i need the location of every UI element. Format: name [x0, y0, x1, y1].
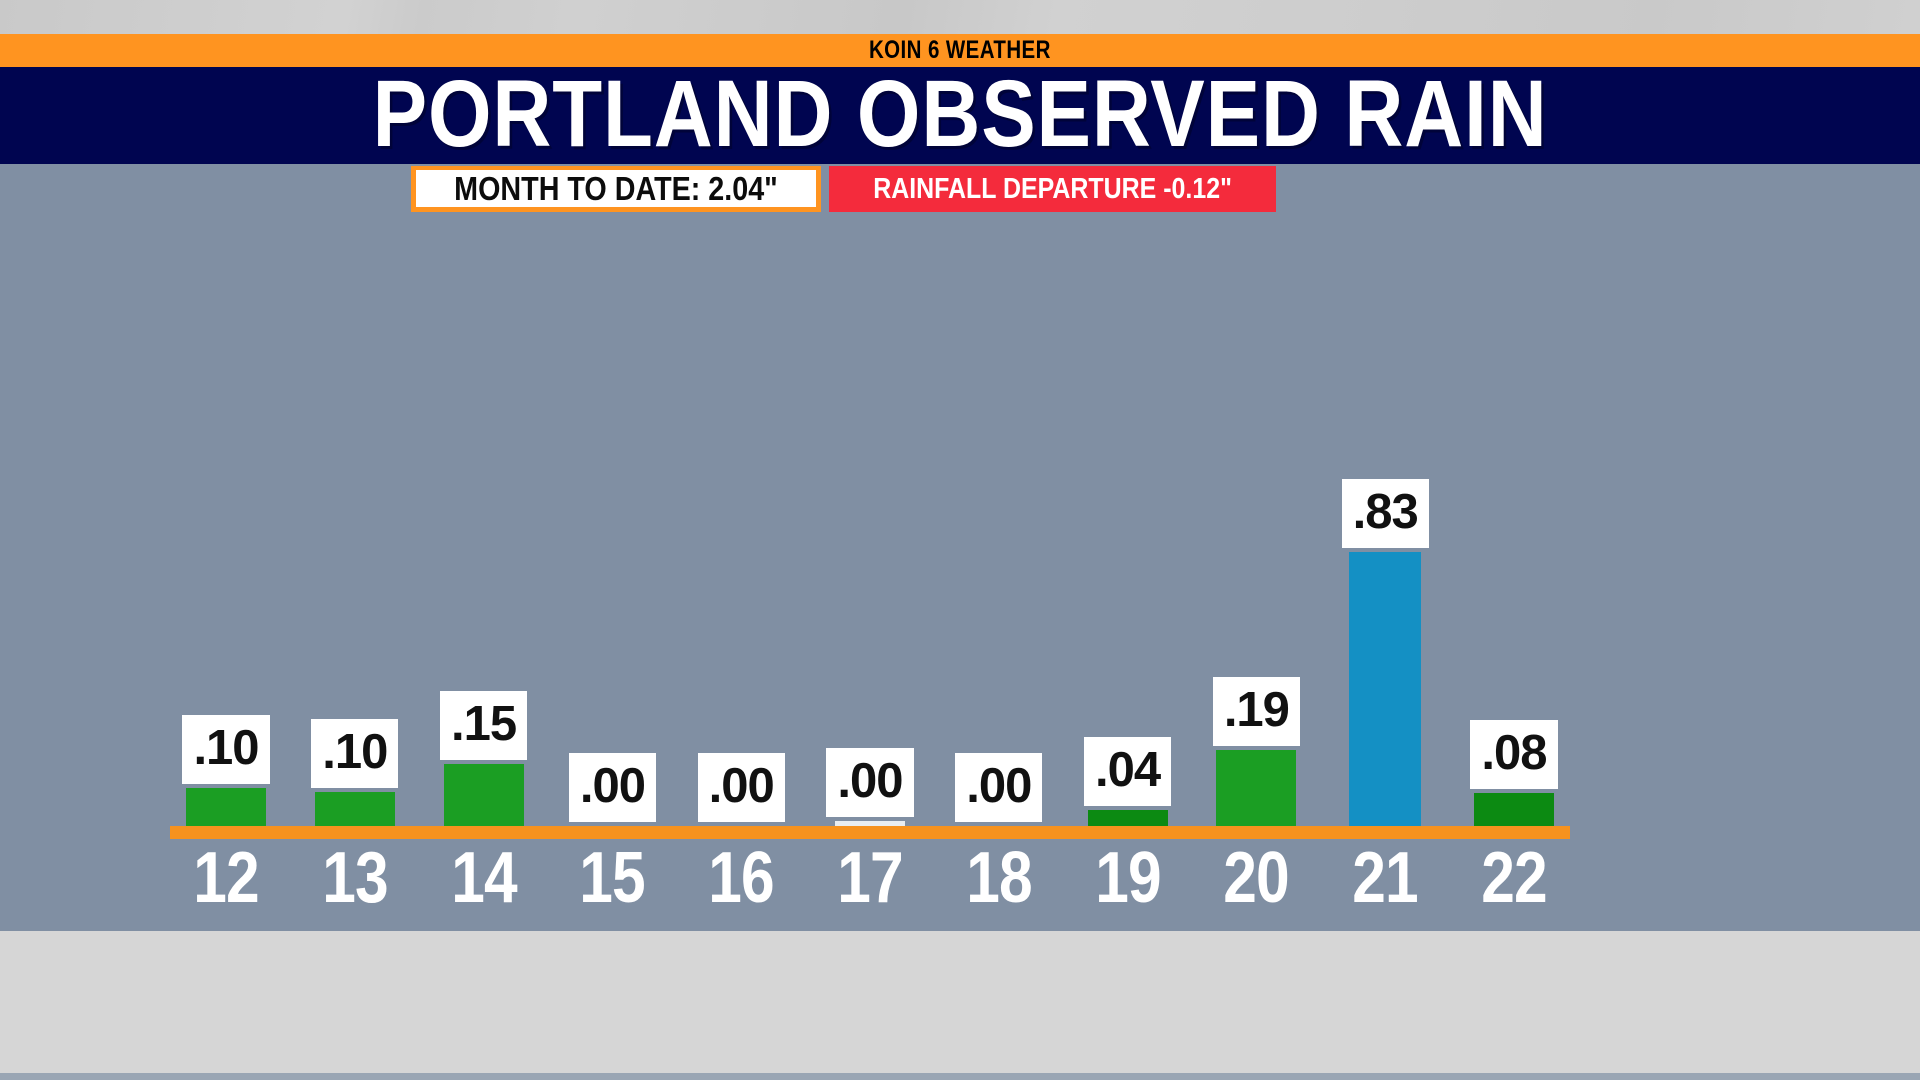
bar [1349, 552, 1421, 826]
bar-column: .00 [556, 200, 668, 826]
bar-value-label: .19 [1213, 677, 1300, 746]
bar-column: .00 [685, 200, 797, 826]
bar-value-label: .00 [826, 748, 913, 817]
station-brand-label: KOIN 6 WEATHER [869, 36, 1051, 65]
bar-value-label: .08 [1470, 720, 1557, 789]
bar-value-label: .83 [1342, 479, 1429, 548]
bar-value-label: .15 [440, 691, 527, 760]
page-title: PORTLAND OBSERVED RAIN [373, 67, 1548, 162]
top-gray-strip [0, 0, 1920, 34]
bar-value-label: .00 [569, 753, 656, 822]
bar-column: .10 [170, 200, 282, 826]
day-label: 17 [823, 842, 917, 914]
bar [315, 792, 395, 826]
bar-columns: .10.10.15.00.00.00.00.04.19.83.08 [170, 200, 1570, 826]
bar-column: .00 [943, 200, 1055, 826]
bar [835, 821, 905, 826]
bar-value-label: .04 [1084, 737, 1171, 806]
day-label: 21 [1338, 842, 1432, 914]
title-band: PORTLAND OBSERVED RAIN [0, 67, 1920, 164]
day-label: 13 [308, 842, 402, 914]
day-label: 16 [694, 842, 788, 914]
day-label: 20 [1209, 842, 1303, 914]
bar [1216, 750, 1296, 826]
bar-column: .08 [1458, 200, 1570, 826]
day-axis: 1213141516171819202122 [170, 841, 1570, 915]
day-label: 14 [437, 842, 531, 914]
bar-column: .83 [1329, 200, 1441, 826]
bar-value-label: .00 [955, 753, 1042, 822]
weather-graphic: KOIN 6 WEATHER PORTLAND OBSERVED RAIN MO… [0, 0, 1920, 1080]
bar [186, 788, 266, 826]
bar-value-label: .10 [311, 719, 398, 788]
bar-column: .00 [814, 200, 926, 826]
bottom-gray-strip [0, 931, 1920, 1073]
day-label: 18 [952, 842, 1046, 914]
bar [1474, 793, 1554, 826]
day-label: 15 [565, 842, 659, 914]
bottom-edge-strip [0, 1073, 1920, 1080]
bar-column: .19 [1200, 200, 1312, 826]
bar-column: .10 [299, 200, 411, 826]
bar-column: .04 [1072, 200, 1184, 826]
bar-value-label: .00 [698, 753, 785, 822]
day-label: 22 [1467, 842, 1561, 914]
eyebrow-bar: KOIN 6 WEATHER [0, 34, 1920, 67]
bar-value-label: .10 [182, 715, 269, 784]
day-label: 12 [179, 842, 273, 914]
day-label: 19 [1081, 842, 1175, 914]
bar [1088, 810, 1168, 826]
bar [444, 764, 524, 826]
bar-column: .15 [428, 200, 540, 826]
